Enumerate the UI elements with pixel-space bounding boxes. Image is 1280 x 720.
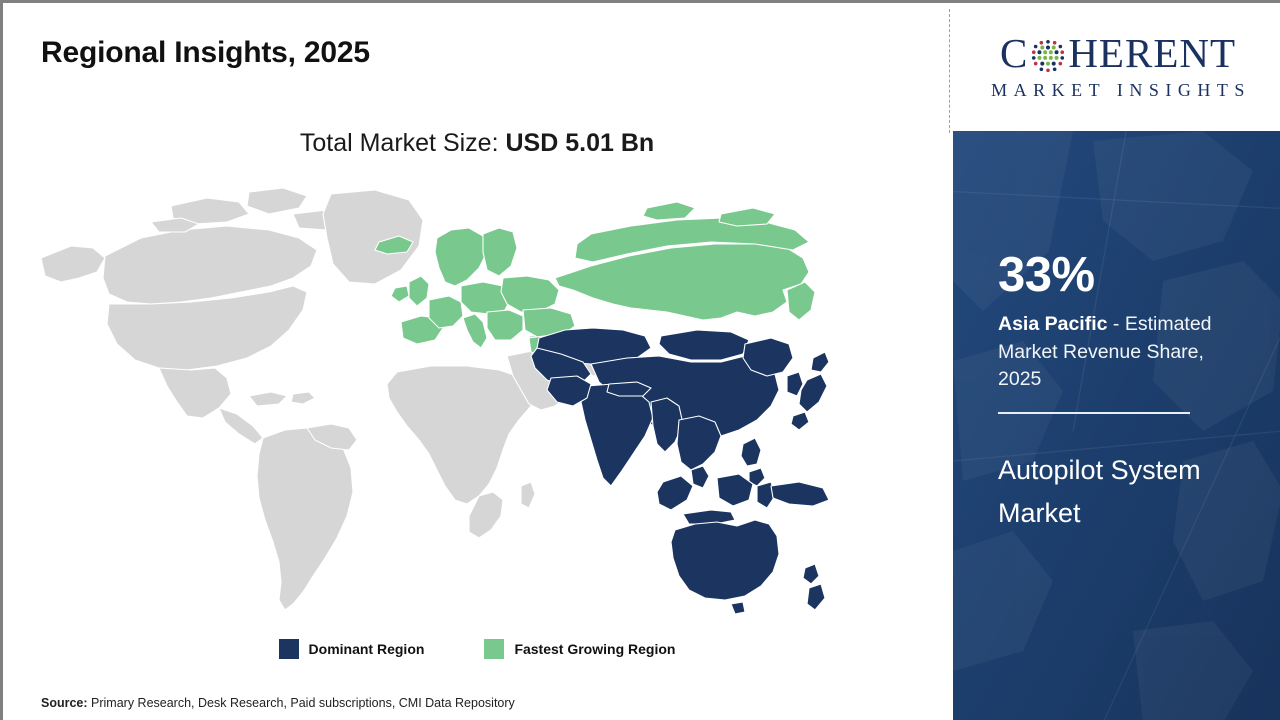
page-title: Regional Insights, 2025 xyxy=(41,36,370,70)
total-market-size: Total Market Size: USD 5.01 Bn xyxy=(3,129,951,158)
logo-word-post: HERENT xyxy=(1068,33,1236,74)
legend-label-fastest-growing: Fastest Growing Region xyxy=(514,641,675,657)
stat-region: Asia Pacific xyxy=(998,313,1107,335)
market-size-value: USD 5.01 Bn xyxy=(505,129,654,157)
source-text: Primary Research, Desk Research, Paid su… xyxy=(88,696,515,710)
infographic-root: Regional Insights, 2025 Total Market Siz… xyxy=(0,0,1280,720)
stat-value: 33% xyxy=(998,251,1248,300)
stat-panel-content: 33% Asia Pacific - Estimated Market Reve… xyxy=(998,251,1248,536)
legend-item-fastest-growing: Fastest Growing Region xyxy=(484,639,675,659)
globe-dots-icon xyxy=(1029,37,1067,75)
logo-word-pre: C xyxy=(1000,33,1028,74)
legend-label-dominant: Dominant Region xyxy=(309,641,425,657)
map-region-north-america xyxy=(41,188,423,444)
map-legend: Dominant Region Fastest Growing Region xyxy=(3,639,951,659)
left-content-panel: Regional Insights, 2025 Total Market Siz… xyxy=(3,3,951,720)
map-region-south-america xyxy=(257,424,357,610)
source-note: Source: Primary Research, Desk Research,… xyxy=(41,696,515,710)
stat-panel: 33% Asia Pacific - Estimated Market Reve… xyxy=(953,131,1280,720)
brand-logo: C xyxy=(953,3,1280,131)
source-label: Source: xyxy=(41,696,88,710)
panel-divider xyxy=(949,9,950,133)
legend-item-dominant: Dominant Region xyxy=(279,639,425,659)
legend-swatch-dominant-icon xyxy=(279,639,299,659)
stat-caption: Asia Pacific - Estimated Market Revenue … xyxy=(998,311,1248,394)
map-region-africa xyxy=(387,366,535,538)
market-name: Autopilot System Market xyxy=(998,449,1248,536)
logo-wordmark: C xyxy=(1000,33,1236,74)
world-map xyxy=(31,186,831,616)
map-region-asia-pacific-dominant xyxy=(531,328,829,614)
stat-divider xyxy=(998,412,1190,414)
world-map-svg xyxy=(31,186,831,616)
legend-swatch-fastest-growing-icon xyxy=(484,639,504,659)
market-size-label: Total Market Size: xyxy=(300,129,506,157)
logo-subtitle: MARKET INSIGHTS xyxy=(985,80,1251,101)
